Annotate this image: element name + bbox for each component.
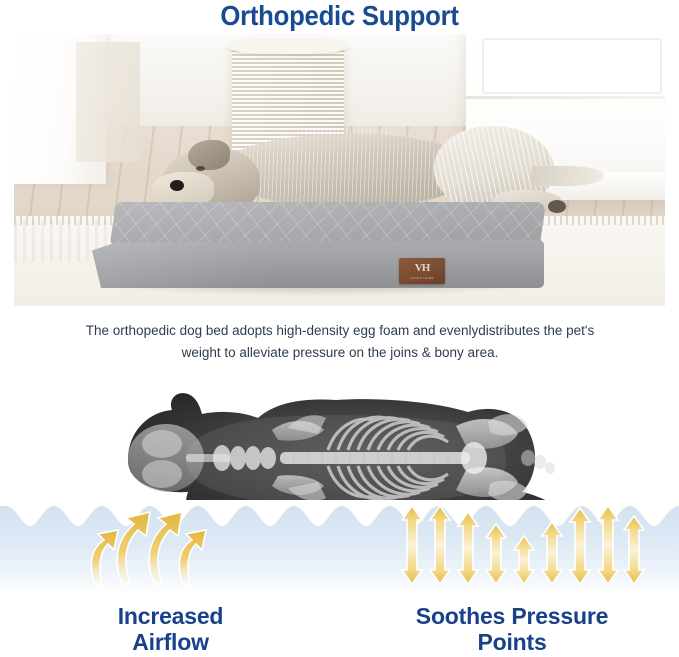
page-title: Orthopedic Support bbox=[27, 0, 652, 32]
caption-left-line1: Increased bbox=[48, 604, 293, 630]
dog-paw bbox=[548, 200, 566, 213]
dog-nose bbox=[170, 180, 184, 191]
woven-basket-rim bbox=[228, 40, 348, 54]
airflow-arrows bbox=[78, 504, 218, 588]
dresser-seam bbox=[466, 96, 665, 99]
logo-subtext: VANCE HOME bbox=[410, 276, 434, 280]
caption-left-line2: Airflow bbox=[48, 630, 293, 656]
dog-eye bbox=[196, 166, 205, 171]
dog-ear bbox=[188, 140, 230, 170]
caption-right-line2: Points bbox=[362, 630, 662, 656]
description-text: The orthopedic dog bed adopts high-densi… bbox=[70, 320, 610, 364]
dresser-panel bbox=[482, 38, 662, 94]
leather-logo-tag: VH VANCE HOME bbox=[399, 258, 445, 284]
caption-increased-airflow: Increased Airflow bbox=[48, 604, 293, 656]
hero-photo: VH VANCE HOME bbox=[14, 34, 665, 306]
dog-fur-texture bbox=[226, 128, 462, 212]
bed-quilted-top bbox=[110, 202, 546, 244]
caption-right-line1: Soothes Pressure bbox=[362, 604, 662, 630]
pressure-arrows bbox=[400, 504, 645, 590]
dog-tail bbox=[532, 166, 604, 186]
bed-front-panel bbox=[92, 240, 544, 288]
logo-monogram: VH bbox=[415, 263, 430, 274]
product-feature-page: Orthopedic Support bbox=[0, 0, 679, 657]
foam-diagram: Increased Airflow Soothes Pressure Point… bbox=[0, 382, 679, 657]
caption-soothes-pressure-points: Soothes Pressure Points bbox=[362, 604, 662, 656]
gray-quilted-dog-bed: VH VANCE HOME bbox=[92, 202, 544, 294]
photo-left-door bbox=[76, 42, 140, 162]
